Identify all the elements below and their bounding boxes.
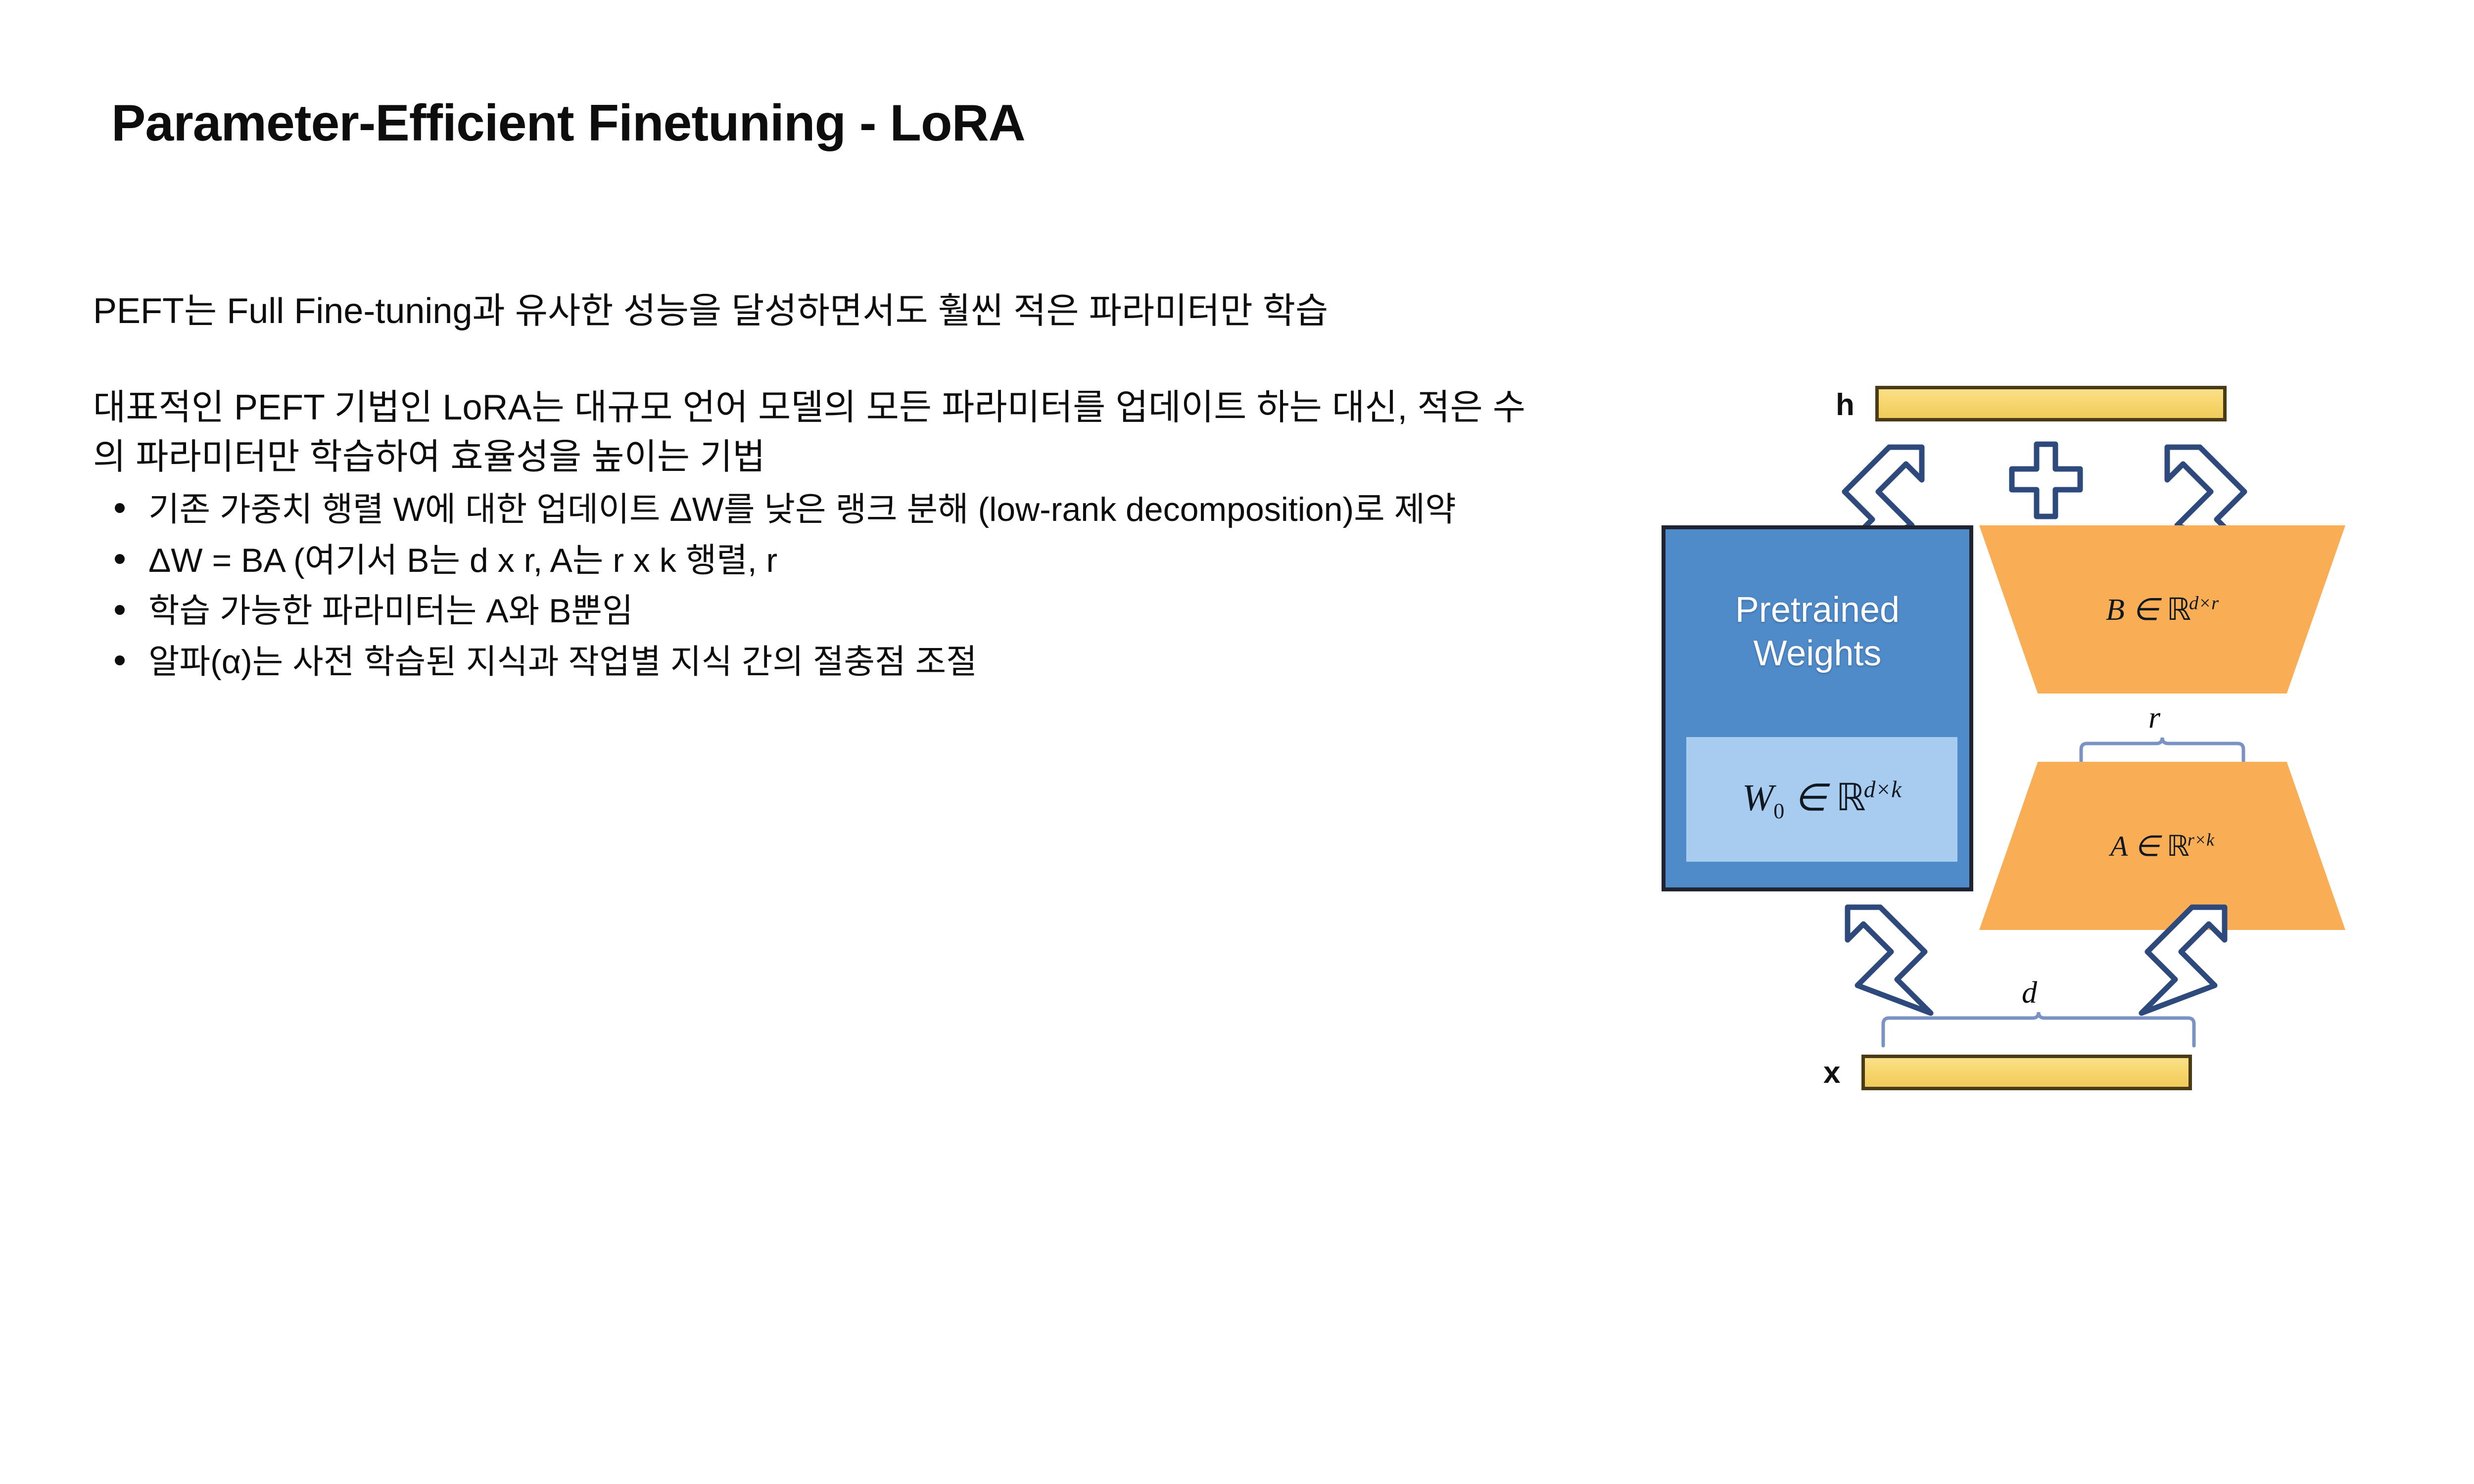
list-item-text: 기존 가중치 행렬 W에 대한 업데이트 ΔW를 낮은 랭크 분해 (low-r… (148, 491, 1456, 528)
list-item: 학습 가능한 파라미터는 A와 B뿐임 (93, 587, 1538, 635)
matrix-a-element-of: ∈ (2127, 830, 2167, 862)
pretrained-weights-title-line1: Pretrained (1665, 589, 1969, 632)
matrix-b-element-of: ∈ (2125, 593, 2167, 627)
paragraph-spacer (93, 336, 1538, 383)
w0-element-of: ∈ (1784, 777, 1836, 819)
matrix-b-real-set: ℝ (2167, 593, 2189, 627)
w0-exponent: d×k (1864, 777, 1902, 803)
paragraph-peft-intro: PEFT는 Full Fine-tuning과 유사한 성능을 달성하면서도 훨… (93, 287, 1538, 336)
matrix-a-exponent: r×k (2188, 830, 2214, 850)
matrix-b-exponent: d×r (2189, 593, 2219, 613)
list-item-text: 학습 가능한 파라미터는 A와 B뿐임 (148, 592, 633, 630)
input-vector-label-x: x (1823, 1058, 1840, 1088)
plus-icon (2009, 441, 2083, 520)
paragraph-lora-description: 대표적인 PEFT 기법인 LoRA는 대규모 언어 모델의 모든 파라미터를 … (93, 383, 1538, 482)
matrix-a-formula: A ∈ ℝr×k (2110, 829, 2214, 863)
w0-subscript: 0 (1773, 799, 1784, 823)
bullet-dot-icon (115, 655, 125, 665)
bullet-dot-icon (115, 605, 125, 615)
bullet-dot-icon (115, 503, 125, 513)
list-item-text: 알파(α)는 사전 학습된 지식과 작업별 지식 간의 절충점 조절 (148, 643, 977, 681)
list-item: 기존 가중치 행렬 W에 대한 업데이트 ΔW를 낮은 랭크 분해 (low-r… (93, 486, 1538, 534)
output-vector-bar (1875, 386, 2227, 421)
matrix-a-symbol: A (2110, 830, 2127, 862)
matrix-b-symbol: B (2106, 593, 2125, 627)
list-item-text: ΔW = BA (여기서 B는 d x r, A는 r x k 행렬, r (148, 542, 777, 579)
matrix-a-real-set: ℝ (2167, 830, 2188, 862)
w0-formula: W0 ∈ ℝd×k (1742, 775, 1902, 824)
w0-symbol: W (1742, 777, 1773, 819)
page-title: Parameter-Efficient Finetuning - LoRA (111, 94, 1025, 153)
w0-real-set: ℝ (1836, 777, 1864, 819)
output-vector-label-h: h (1836, 390, 1855, 420)
list-item: ΔW = BA (여기서 B는 d x r, A는 r x k 행렬, r (93, 537, 1538, 585)
dimension-label-d: d (2022, 975, 2037, 1011)
dimension-label-r: r (2148, 700, 2160, 736)
pretrained-weights-title-line2: Weights (1665, 632, 1969, 676)
body-text-column: PEFT는 Full Fine-tuning과 유사한 성능을 달성하면서도 훨… (93, 287, 1538, 689)
bullet-dot-icon (115, 554, 125, 564)
matrix-b-trapezoid: B ∈ ℝd×r (1979, 525, 2345, 694)
pretrained-weights-box: Pretrained Weights W0 ∈ ℝd×k (1662, 525, 1973, 891)
lora-bullet-list: 기존 가중치 행렬 W에 대한 업데이트 ΔW를 낮은 랭크 분해 (low-r… (93, 486, 1538, 686)
list-item: 알파(α)는 사전 학습된 지식과 작업별 지식 간의 절충점 조절 (93, 638, 1538, 686)
arrow-up-left-icon (1821, 900, 1940, 1024)
input-vector-bar (1861, 1055, 2192, 1090)
w0-formula-box: W0 ∈ ℝd×k (1686, 737, 1957, 862)
brace-d-icon (1880, 1009, 2197, 1049)
matrix-b-formula: B ∈ ℝd×r (2106, 591, 2219, 628)
matrix-a-trapezoid: A ∈ ℝr×k (1979, 762, 2345, 930)
pretrained-weights-title: Pretrained Weights (1665, 589, 1969, 676)
lora-architecture-diagram: h Pretrained Weights W0 ∈ ℝd×k B ∈ ℝd×r … (1633, 366, 2474, 1108)
